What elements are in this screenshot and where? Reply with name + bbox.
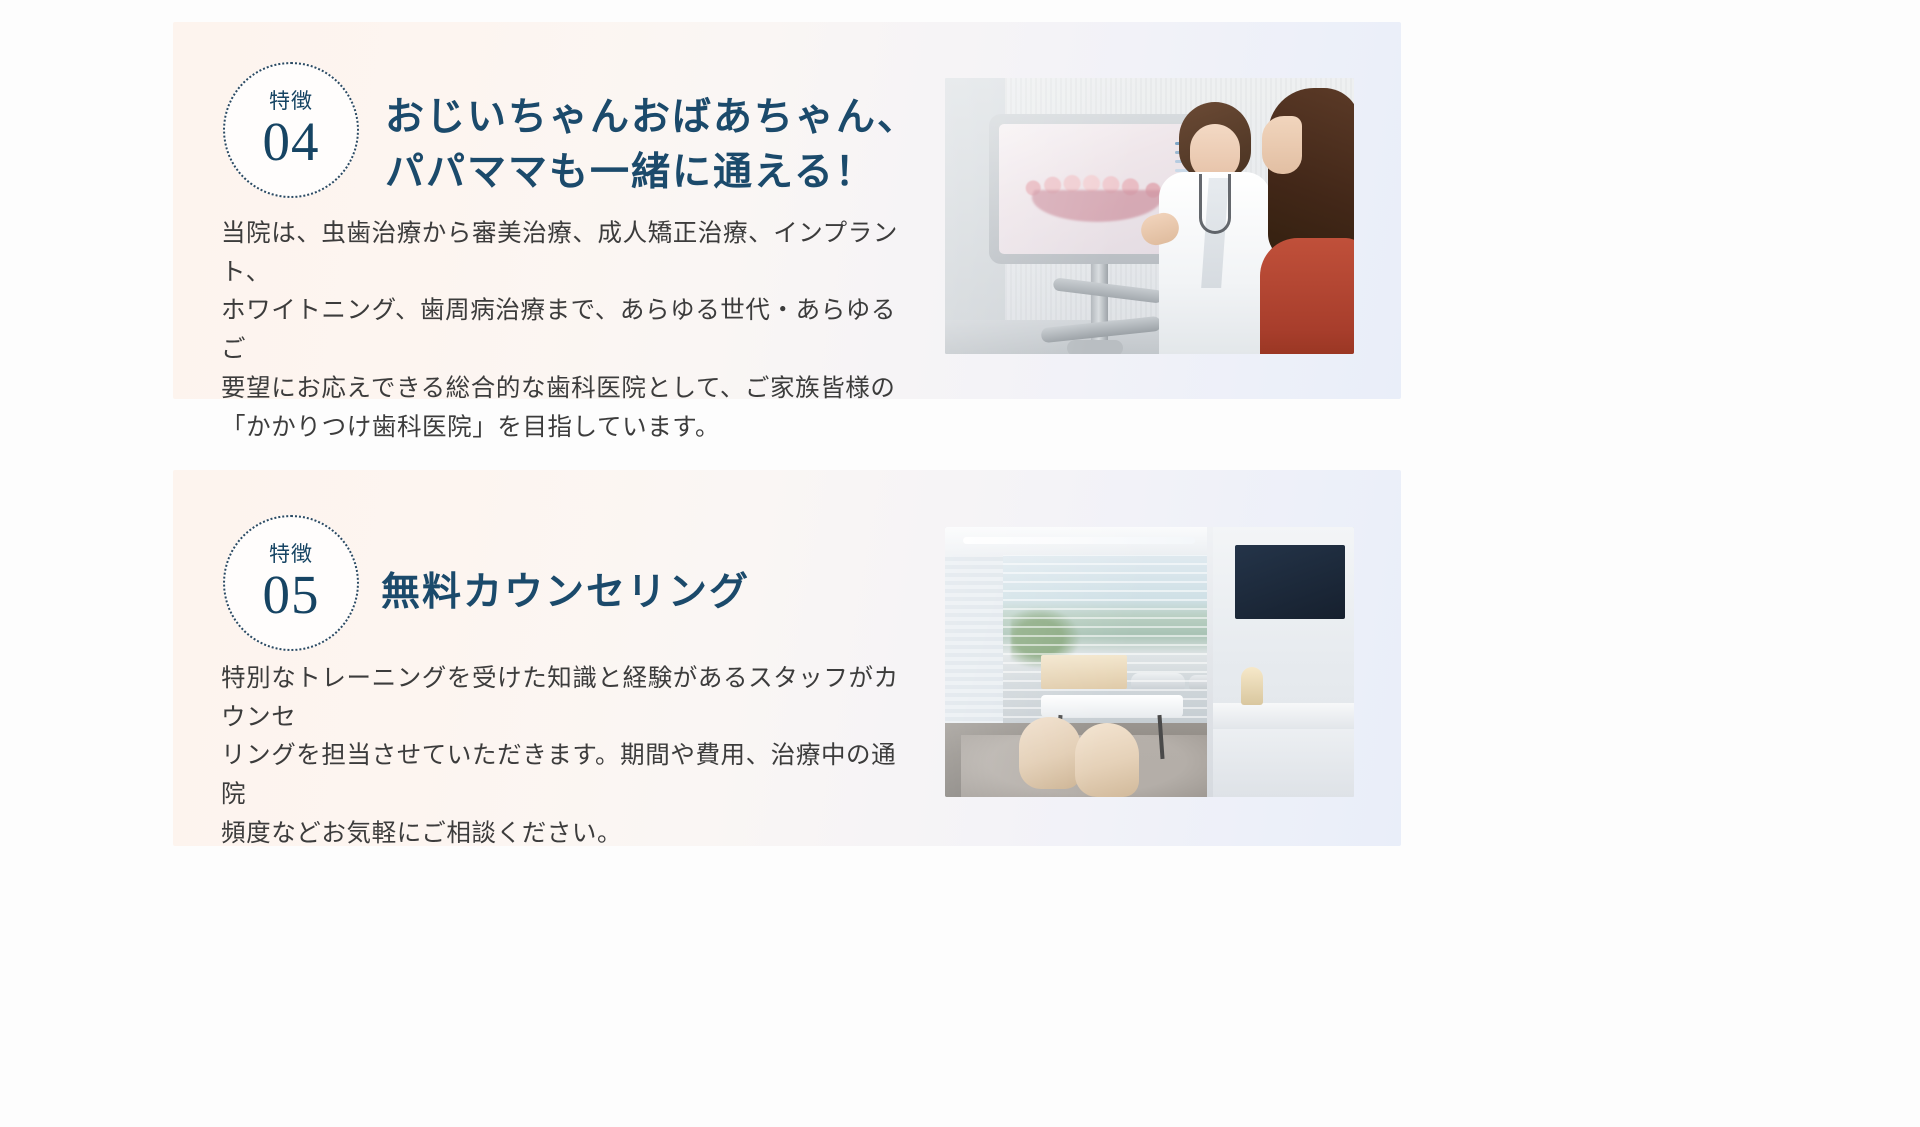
dentist-figure (1159, 102, 1271, 354)
chair-left (1019, 717, 1081, 789)
counselling-table (1041, 695, 1183, 717)
patient-hair (1268, 88, 1354, 260)
wall-monitor (1235, 545, 1345, 619)
feature-description: 特別なトレーニングを受けた知識と経験があるスタッフがカウンセ リングを担当させて… (221, 660, 921, 854)
reception-counter (1213, 703, 1354, 729)
feature-badge: 特徴 05 (223, 515, 359, 651)
ceiling-light-strip (963, 537, 1195, 544)
photo-illustration (945, 78, 1354, 354)
patient-face (1262, 116, 1302, 174)
desk-lamp (1241, 667, 1263, 705)
patient-figure (1258, 88, 1354, 354)
feature-photo-counselling-room (945, 527, 1354, 797)
monitor-base (1067, 340, 1123, 354)
counter-cabinet (1213, 729, 1354, 797)
feature-card: 特徴 05 無料カウンセリング 特別なトレーニングを受けた知識と経験があるスタッ… (173, 470, 1401, 846)
feature-card: 特徴 04 おじいちゃんおばあちゃん、 パパママも一緒に通える！ 当院は、虫歯治… (173, 22, 1401, 399)
wall-panel (1041, 655, 1127, 689)
badge-number: 05 (263, 567, 320, 622)
badge-label: 特徴 (269, 91, 313, 112)
feature-title: おじいちゃんおばあちゃん、 パパママも一緒に通える！ (385, 90, 918, 201)
feature-list-page: 特徴 04 おじいちゃんおばあちゃん、 パパママも一緒に通える！ 当院は、虫歯治… (0, 0, 1920, 1127)
badge-number: 04 (263, 114, 320, 169)
feature-title: 無料カウンセリング (381, 565, 750, 620)
badge-label: 特徴 (269, 544, 313, 565)
feature-description: 当院は、虫歯治療から審美治療、成人矯正治療、インプラント、 ホワイトニング、歯周… (221, 215, 921, 447)
feature-badge: 特徴 04 (223, 62, 359, 198)
photo-illustration (945, 527, 1354, 797)
dentist-lanyard (1199, 174, 1231, 234)
chair-right (1075, 723, 1139, 797)
patient-body (1260, 238, 1354, 354)
feature-photo-dental-scanner (945, 78, 1354, 354)
